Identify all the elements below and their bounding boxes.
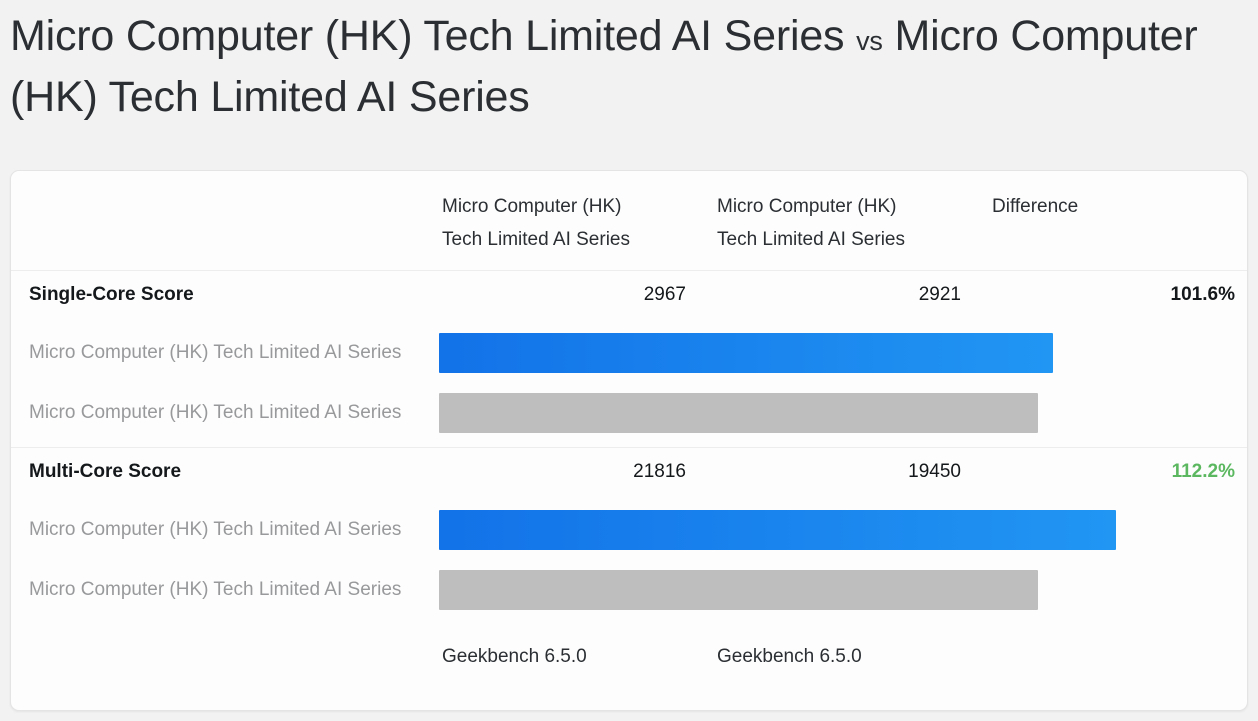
bar-gap (11, 373, 1248, 393)
score-difference-multi-core: 112.2% (989, 448, 1248, 497)
score-row-single-core: Single-Core Score 2967 2921 101.6% (11, 271, 1248, 320)
bar-primary-multi-core (439, 510, 1116, 550)
bar-track (439, 570, 1248, 610)
bar-primary-single-core (439, 333, 1053, 373)
bar-cell-single-core-b (439, 393, 1248, 448)
score-value-a-multi-core: 21816 (439, 448, 714, 497)
footer-benchmark-a: Geekbench 6.5.0 (439, 624, 714, 668)
title-vs-separator: vs (856, 26, 883, 56)
header-system-b: Micro Computer (HK) Tech Limited AI Seri… (714, 171, 989, 271)
bar-row-multi-core-b: Micro Computer (HK) Tech Limited AI Seri… (11, 570, 1248, 624)
bar-label-single-core-a: Micro Computer (HK) Tech Limited AI Seri… (11, 319, 439, 373)
bar-track (439, 333, 1248, 373)
bar-track (439, 510, 1248, 550)
bar-row-single-core-b: Micro Computer (HK) Tech Limited AI Seri… (11, 393, 1248, 448)
bar-track (439, 393, 1248, 433)
table-body: Single-Core Score 2967 2921 101.6% Micro… (11, 271, 1248, 669)
bar-secondary-multi-core (439, 570, 1038, 610)
bar-label-multi-core-b: Micro Computer (HK) Tech Limited AI Seri… (11, 570, 439, 624)
bar-gap (11, 550, 1248, 570)
comparison-card: Micro Computer (HK) Tech Limited AI Seri… (10, 170, 1248, 711)
header-difference: Difference (989, 171, 1248, 271)
header-system-a-line2: Tech Limited AI Series (442, 224, 662, 257)
header-system-a-line1: Micro Computer (HK) (442, 191, 662, 224)
footer-label-column (11, 624, 439, 668)
table-header-row: Micro Computer (HK) Tech Limited AI Seri… (11, 171, 1248, 271)
bar-label-multi-core-a: Micro Computer (HK) Tech Limited AI Seri… (11, 496, 439, 550)
score-value-a-single-core: 2967 (439, 271, 714, 320)
table-header: Micro Computer (HK) Tech Limited AI Seri… (11, 171, 1248, 271)
score-row-multi-core: Multi-Core Score 21816 19450 112.2% (11, 448, 1248, 497)
footer-benchmark-b: Geekbench 6.5.0 (714, 624, 989, 668)
comparison-table: Micro Computer (HK) Tech Limited AI Seri… (11, 171, 1248, 668)
header-system-a: Micro Computer (HK) Tech Limited AI Seri… (439, 171, 714, 271)
header-label-column (11, 171, 439, 271)
bar-secondary-single-core (439, 393, 1038, 433)
bar-row-single-core-a: Micro Computer (HK) Tech Limited AI Seri… (11, 319, 1248, 373)
bar-row-multi-core-a: Micro Computer (HK) Tech Limited AI Seri… (11, 496, 1248, 550)
table-footer-row: Geekbench 6.5.0 Geekbench 6.5.0 (11, 624, 1248, 668)
score-difference-single-core: 101.6% (989, 271, 1248, 320)
header-system-b-line2: Tech Limited AI Series (717, 224, 937, 257)
bar-cell-multi-core-b (439, 570, 1248, 624)
bar-spacer (12, 374, 1248, 392)
score-value-b-multi-core: 19450 (714, 448, 989, 497)
score-label-single-core: Single-Core Score (11, 271, 439, 320)
score-label-multi-core: Multi-Core Score (11, 448, 439, 497)
bar-spacer (12, 551, 1248, 569)
bar-cell-single-core-a (439, 319, 1248, 373)
footer-difference-column (989, 624, 1248, 668)
score-value-b-single-core: 2921 (714, 271, 989, 320)
header-system-b-line1: Micro Computer (HK) (717, 191, 937, 224)
page-title: Micro Computer (HK) Tech Limited AI Seri… (0, 0, 1258, 128)
bar-label-single-core-b: Micro Computer (HK) Tech Limited AI Seri… (11, 393, 439, 448)
title-left-system: Micro Computer (HK) Tech Limited AI Seri… (10, 12, 844, 60)
comparison-page: Micro Computer (HK) Tech Limited AI Seri… (0, 0, 1258, 721)
bar-cell-multi-core-a (439, 496, 1248, 550)
